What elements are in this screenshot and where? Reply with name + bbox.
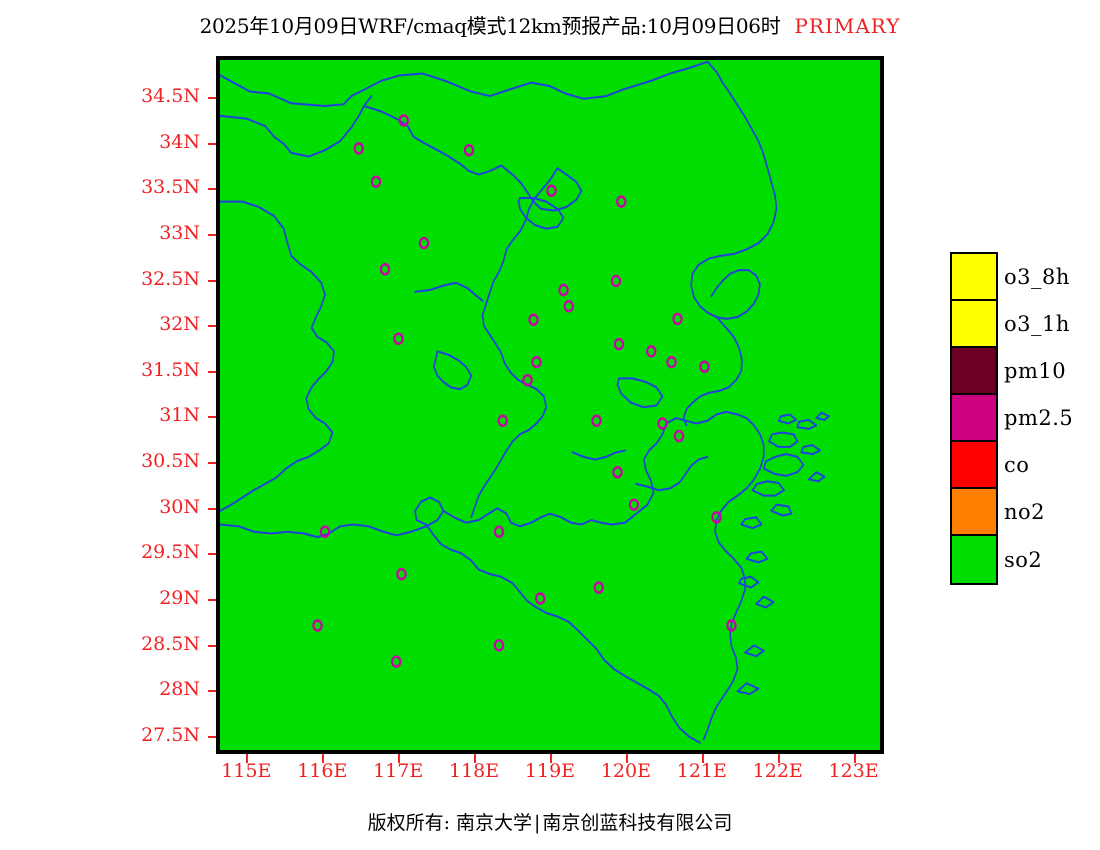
footer-text-right: 南京创蓝科技有限公司 <box>542 812 732 834</box>
x-axis-tick-mark <box>550 754 552 763</box>
chart-title: 2025年10月09日WRF/cmaq模式12km预报产品:10月09日06时P… <box>0 10 1100 39</box>
x-axis-tick-label: 120E <box>586 760 666 782</box>
legend-label: so2 <box>1004 548 1042 572</box>
x-axis-tick-label: 118E <box>434 760 514 782</box>
province-boundaries <box>220 62 829 743</box>
y-axis-tick-label: 28N <box>0 678 200 700</box>
x-axis-tick-mark <box>702 754 704 763</box>
station-marker[interactable] <box>673 314 681 324</box>
station-marker[interactable] <box>613 467 621 477</box>
legend-item-no2[interactable]: no2 <box>952 489 996 536</box>
y-axis-tick-label: 31N <box>0 404 200 426</box>
x-axis-tick-mark <box>398 754 400 763</box>
y-axis-tick-mark <box>208 371 216 373</box>
y-axis-tick-mark <box>208 690 216 692</box>
legend-panel[interactable]: o3_8ho3_1hpm10pm2.5cono2so2 <box>950 252 998 585</box>
y-axis-tick-label: 28.5N <box>0 633 200 655</box>
legend-item-co[interactable]: co <box>952 442 996 489</box>
station-marker[interactable] <box>355 143 363 153</box>
y-axis-tick-label: 30N <box>0 496 200 518</box>
station-marker[interactable] <box>615 339 623 349</box>
legend-label: co <box>1004 453 1029 477</box>
y-axis-tick-mark <box>208 553 216 555</box>
station-marker[interactable] <box>559 285 567 295</box>
y-axis-tick-label: 34.5N <box>0 85 200 107</box>
y-axis-tick-mark <box>208 736 216 738</box>
y-axis-tick-mark <box>208 234 216 236</box>
y-axis-tick-label: 32.5N <box>0 268 200 290</box>
station-marker[interactable] <box>313 621 321 631</box>
x-axis-tick-label: 121E <box>662 760 742 782</box>
y-axis-tick-label: 33.5N <box>0 176 200 198</box>
station-marker[interactable] <box>612 276 620 286</box>
y-axis-tick-mark <box>208 143 216 145</box>
station-marker[interactable] <box>397 569 405 579</box>
station-marker[interactable] <box>465 145 473 155</box>
legend-item-o38h[interactable]: o3_8h <box>952 254 996 301</box>
legend-label: o3_1h <box>1004 312 1070 336</box>
y-axis-tick-label: 33N <box>0 222 200 244</box>
title-main-text: 2025年10月09日WRF/cmaq模式12km预报产品:10月09日06时 <box>200 14 781 38</box>
y-axis-tick-mark <box>208 462 216 464</box>
y-axis-tick-mark <box>208 280 216 282</box>
station-marker[interactable] <box>420 238 428 248</box>
x-axis-tick-mark <box>322 754 324 763</box>
map-svg <box>220 60 880 750</box>
station-marker[interactable] <box>499 416 507 426</box>
station-marker[interactable] <box>381 264 389 274</box>
legend-label: pm10 <box>1004 359 1066 383</box>
y-axis-tick-mark <box>208 599 216 601</box>
y-axis-tick-label: 27.5N <box>0 724 200 746</box>
station-marker[interactable] <box>529 315 537 325</box>
station-marker[interactable] <box>647 346 655 356</box>
y-axis-tick-mark <box>208 325 216 327</box>
station-marker[interactable] <box>700 362 708 372</box>
y-axis-tick-label: 34N <box>0 131 200 153</box>
y-axis-tick-label: 32N <box>0 313 200 335</box>
footer-text-left: 版权所有: 南京大学 <box>368 812 532 834</box>
x-axis-tick-label: 122E <box>738 760 818 782</box>
legend-label: no2 <box>1004 500 1045 524</box>
legend-item-o31h[interactable]: o3_1h <box>952 301 996 348</box>
y-axis-tick-label: 29N <box>0 587 200 609</box>
station-marker[interactable] <box>392 657 400 667</box>
x-axis-tick-label: 117E <box>358 760 438 782</box>
y-axis-tick-mark <box>208 645 216 647</box>
x-axis-tick-mark <box>246 754 248 763</box>
station-marker[interactable] <box>536 594 544 604</box>
station-marker[interactable] <box>630 500 638 510</box>
x-axis-tick-label: 123E <box>814 760 894 782</box>
legend-item-pm10[interactable]: pm10 <box>952 348 996 395</box>
station-marker[interactable] <box>495 640 503 650</box>
x-axis-tick-mark <box>854 754 856 763</box>
y-axis-tick-label: 29.5N <box>0 541 200 563</box>
y-axis-tick-mark <box>208 416 216 418</box>
station-marker[interactable] <box>565 301 573 311</box>
station-marker[interactable] <box>675 431 683 441</box>
map-plot-area[interactable] <box>216 56 884 754</box>
y-axis-tick-mark <box>208 97 216 99</box>
y-axis-tick-mark <box>208 508 216 510</box>
y-axis-tick-label: 31.5N <box>0 359 200 381</box>
title-primary-badge: PRIMARY <box>794 14 900 38</box>
x-axis-tick-label: 119E <box>510 760 590 782</box>
y-axis-tick-label: 30.5N <box>0 450 200 472</box>
x-axis-tick-mark <box>626 754 628 763</box>
legend-label: o3_8h <box>1004 265 1070 289</box>
x-axis-tick-label: 115E <box>206 760 286 782</box>
legend-item-pm25[interactable]: pm2.5 <box>952 395 996 442</box>
station-marker[interactable] <box>394 334 402 344</box>
x-axis-tick-mark <box>778 754 780 763</box>
x-axis-tick-label: 116E <box>282 760 362 782</box>
station-marker[interactable] <box>595 583 603 593</box>
station-marker[interactable] <box>532 357 540 367</box>
station-marker[interactable] <box>667 357 675 367</box>
station-marker[interactable] <box>372 177 380 187</box>
station-marker[interactable] <box>592 416 600 426</box>
legend-item-so2[interactable]: so2 <box>952 536 996 583</box>
copyright-footer: 版权所有: 南京大学|南京创蓝科技有限公司 <box>0 808 1100 835</box>
legend-label: pm2.5 <box>1004 406 1073 430</box>
station-marker[interactable] <box>617 197 625 207</box>
x-axis-tick-mark <box>474 754 476 763</box>
footer-separator: | <box>532 812 542 834</box>
station-marker[interactable] <box>547 186 555 196</box>
station-marker[interactable] <box>495 527 503 537</box>
y-axis-tick-mark <box>208 188 216 190</box>
